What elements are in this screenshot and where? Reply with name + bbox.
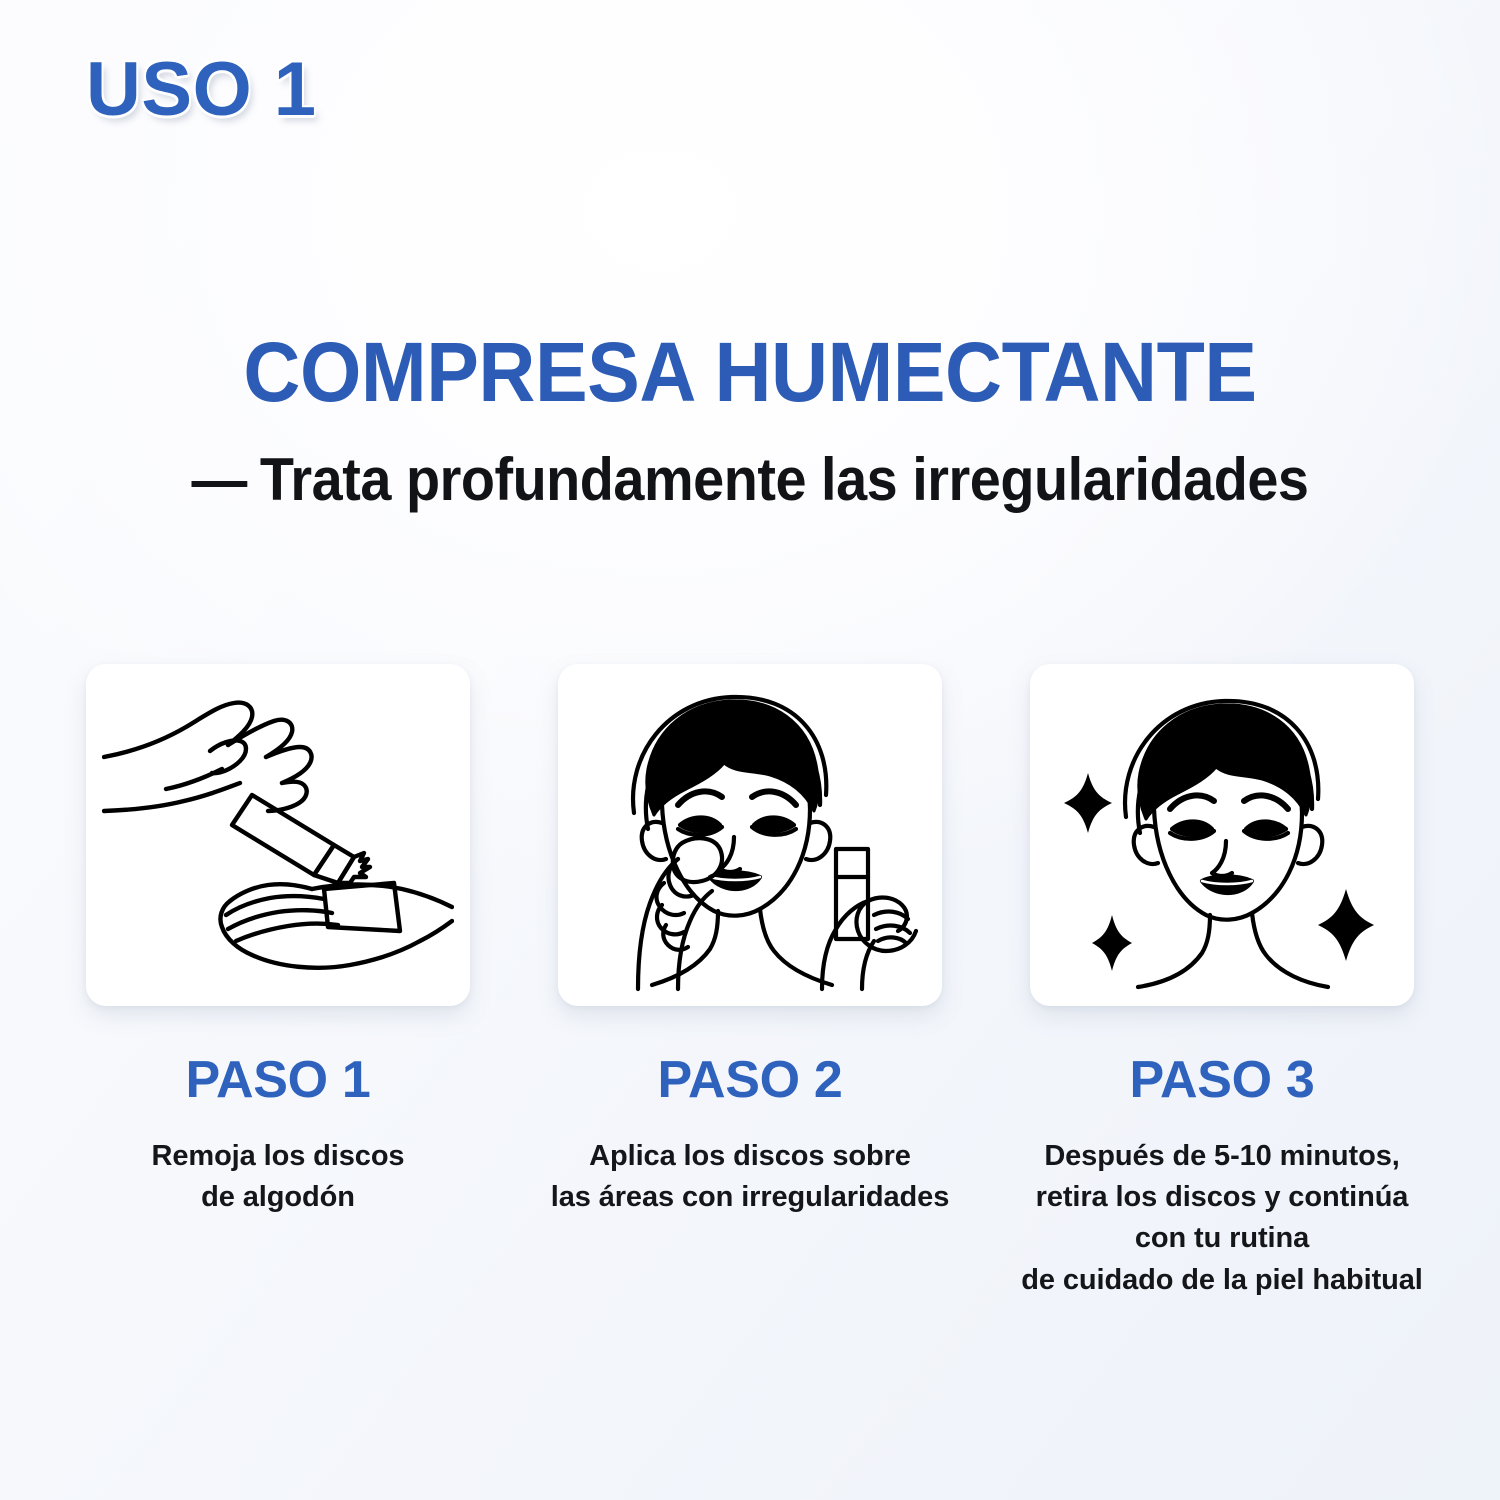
page-subtitle-text: Trata profundamente las irregularidades — [260, 446, 1309, 513]
hand-dispensing-onto-cotton-pad-icon — [102, 677, 454, 993]
page-title: COMPRESA HUMECTANTE — [45, 330, 1455, 414]
step-2-illustration-card — [558, 664, 942, 1006]
caption-line: con tu rutina — [1007, 1218, 1437, 1259]
step-1-caption: Remoja los discos de algodón — [63, 1136, 493, 1218]
sparkle-icon — [1064, 773, 1112, 833]
step-2-label: PASO 2 — [657, 1054, 842, 1106]
caption-line: de cuidado de la piel habitual — [1007, 1260, 1437, 1301]
step-3-illustration-card — [1030, 664, 1414, 1006]
step-2-caption: Aplica los discos sobre las áreas con ir… — [535, 1136, 965, 1218]
poster-canvas: USO 1 COMPRESA HUMECTANTE —Trata profund… — [0, 0, 1500, 1500]
caption-line: retira los discos y continúa — [1007, 1177, 1437, 1218]
headline-block: COMPRESA HUMECTANTE —Trata profundamente… — [0, 330, 1500, 511]
caption-line: de algodón — [63, 1177, 493, 1218]
sparkle-icon — [1092, 915, 1132, 971]
woman-glowing-face-sparkles-icon — [1046, 677, 1398, 993]
sparkle-icon — [1318, 889, 1374, 961]
use-number-badge: USO 1 — [86, 52, 317, 128]
caption-line: Después de 5-10 minutos, — [1007, 1136, 1437, 1177]
caption-line: Aplica los discos sobre — [535, 1136, 965, 1177]
page-subtitle: —Trata profundamente las irregularidades — [53, 448, 1448, 511]
step-item-2: PASO 2 Aplica los discos sobre las áreas… — [558, 664, 942, 1218]
steps-row: PASO 1 Remoja los discos de algodón — [86, 664, 1414, 1301]
step-1-illustration-card — [86, 664, 470, 1006]
step-item-1: PASO 1 Remoja los discos de algodón — [86, 664, 470, 1218]
step-3-caption: Después de 5-10 minutos, retira los disc… — [1007, 1136, 1437, 1301]
step-3-label: PASO 3 — [1129, 1054, 1314, 1106]
woman-applying-cotton-pad-to-face-icon — [574, 677, 926, 993]
em-dash-icon: — — [192, 448, 247, 511]
step-item-3: PASO 3 Después de 5-10 minutos, retira l… — [1030, 664, 1414, 1301]
caption-line: Remoja los discos — [63, 1136, 493, 1177]
step-1-label: PASO 1 — [185, 1054, 370, 1106]
caption-line: las áreas con irregularidades — [535, 1177, 965, 1218]
